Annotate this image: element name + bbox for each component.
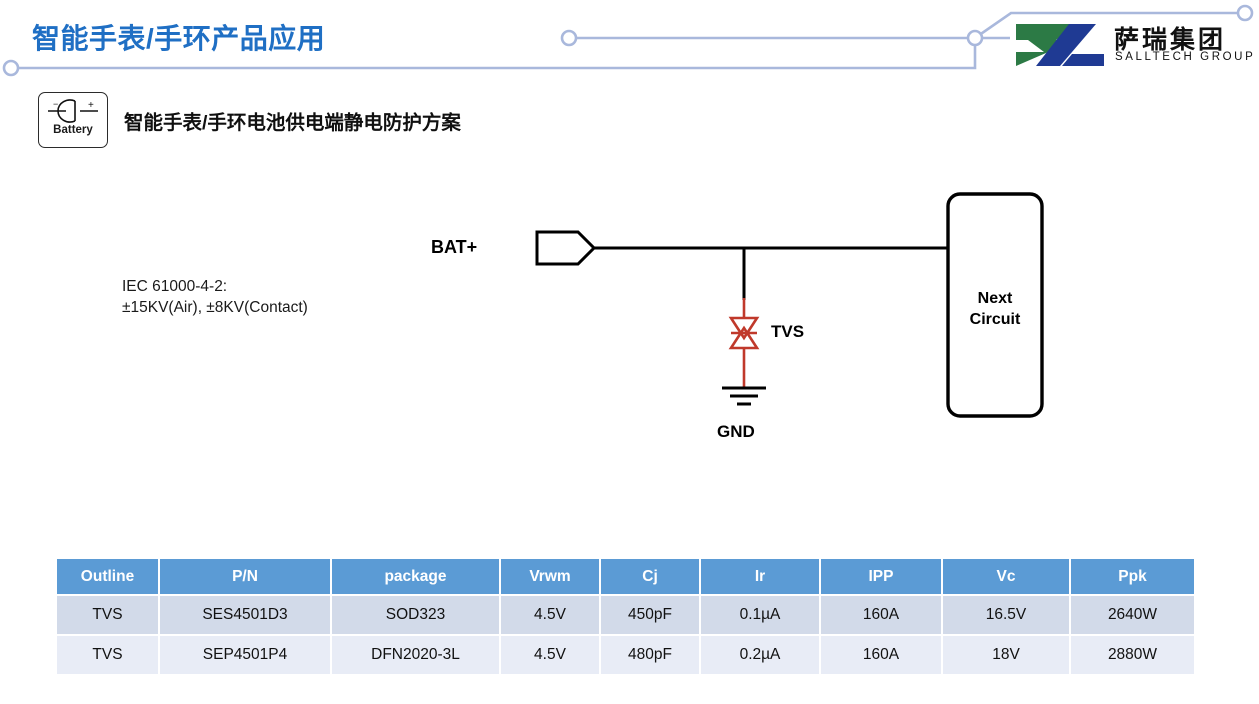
ground-symbol — [722, 388, 766, 404]
cell-ir: 0.2µA — [701, 636, 821, 676]
cell-ppk: 2640W — [1071, 596, 1196, 636]
cell-pn: SES4501D3 — [160, 596, 332, 636]
column-header-vrwm: Vrwm — [501, 559, 601, 596]
page-header: 智能手表/手环产品应用 萨瑞集团 SALLTECH GROUP — [0, 0, 1259, 90]
column-header-ir: Ir — [701, 559, 821, 596]
iec-standard-note: IEC 61000-4-2: ±15KV(Air), ±8KV(Contact) — [122, 276, 308, 318]
page-title: 智能手表/手环产品应用 — [32, 17, 325, 57]
gnd-label: GND — [717, 422, 755, 442]
salltech-logo-icon — [1014, 20, 1106, 70]
cell-ir: 0.1µA — [701, 596, 821, 636]
column-header-outline: Outline — [57, 559, 160, 596]
column-header-vc: Vc — [943, 559, 1071, 596]
column-header-pn: P/N — [160, 559, 332, 596]
cell-ipp: 160A — [821, 596, 943, 636]
column-header-ipp: IPP — [821, 559, 943, 596]
column-header-cj: Cj — [601, 559, 701, 596]
circuit-diagram-svg — [0, 170, 1259, 470]
brand-logo: 萨瑞集团 SALLTECH GROUP — [1014, 18, 1246, 74]
next-circuit-line1: Next — [948, 288, 1042, 309]
cell-cj: 450pF — [601, 596, 701, 636]
table-row: TVS SES4501D3 SOD323 4.5V 450pF 0.1µA 16… — [57, 596, 1196, 636]
bat-plus-label: BAT+ — [431, 237, 477, 258]
cell-cj: 480pF — [601, 636, 701, 676]
table-header-row: Outline P/N package Vrwm Cj Ir IPP Vc Pp… — [57, 559, 1196, 596]
cell-package: DFN2020-3L — [332, 636, 501, 676]
tvs-diode-symbol — [731, 298, 757, 388]
next-circuit-line2: Circuit — [948, 309, 1042, 330]
svg-text:−: − — [53, 99, 58, 109]
bat-connector-symbol — [537, 232, 594, 264]
cell-vrwm: 4.5V — [501, 596, 601, 636]
column-header-package: package — [332, 559, 501, 596]
cell-vrwm: 4.5V — [501, 636, 601, 676]
battery-icon-card: − + Battery — [38, 92, 108, 148]
svg-text:+: + — [88, 100, 94, 111]
tvs-label: TVS — [771, 322, 804, 342]
table-row: TVS SEP4501P4 DFN2020-3L 4.5V 480pF 0.2µ… — [57, 636, 1196, 676]
cell-outline: TVS — [57, 596, 160, 636]
iec-note-line2: ±15KV(Air), ±8KV(Contact) — [122, 297, 308, 318]
cell-outline: TVS — [57, 636, 160, 676]
battery-icon: − + — [44, 98, 102, 124]
spec-table: Outline P/N package Vrwm Cj Ir IPP Vc Pp… — [57, 559, 1196, 676]
next-circuit-label: Next Circuit — [948, 288, 1042, 330]
cell-vc: 18V — [943, 636, 1071, 676]
section-heading: 智能手表/手环电池供电端静电防护方案 — [124, 106, 461, 135]
cell-ppk: 2880W — [1071, 636, 1196, 676]
column-header-ppk: Ppk — [1071, 559, 1196, 596]
cell-ipp: 160A — [821, 636, 943, 676]
cell-package: SOD323 — [332, 596, 501, 636]
iec-note-line1: IEC 61000-4-2: — [122, 276, 308, 297]
cell-pn: SEP4501P4 — [160, 636, 332, 676]
battery-icon-label: Battery — [39, 124, 107, 136]
cell-vc: 16.5V — [943, 596, 1071, 636]
logo-name-en: SALLTECH GROUP — [1115, 51, 1255, 63]
